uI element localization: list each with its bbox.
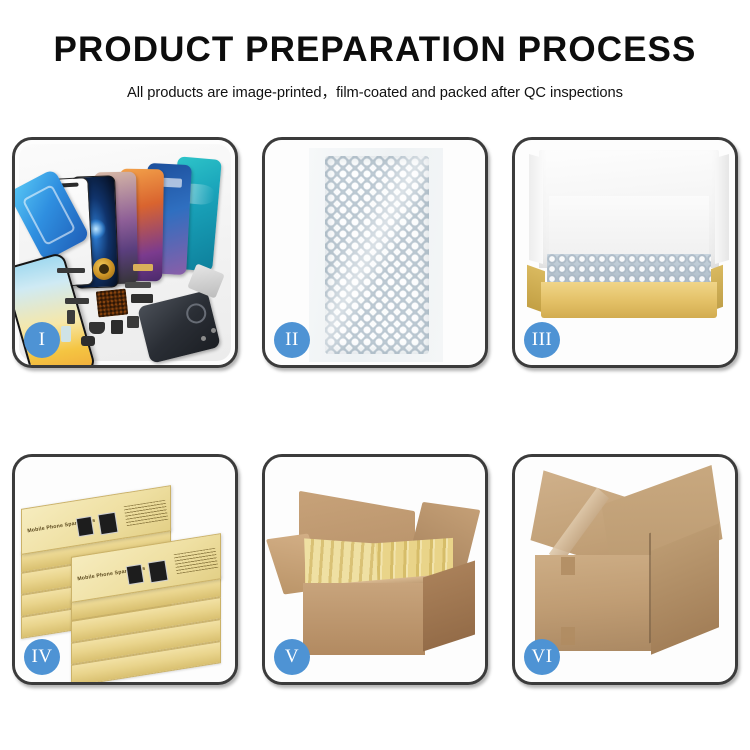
camera-flex-icon	[131, 294, 153, 303]
product-preparation-infographic: PRODUCT PREPARATION PROCESS All products…	[0, 0, 750, 750]
plastic-sheen-overlay	[325, 156, 429, 354]
header: PRODUCT PREPARATION PROCESS All products…	[0, 32, 750, 102]
page-subtitle: All products are image-printed，film-coat…	[0, 81, 750, 102]
button-flex-icon	[133, 264, 153, 271]
bubble-wrapped-contents-icon	[547, 254, 711, 284]
step-badge-4: IV	[24, 639, 60, 675]
step-panel-1: I	[12, 137, 238, 368]
carton-front-face	[535, 555, 651, 651]
step-badge-5: V	[274, 639, 310, 675]
carton-flap-tab	[561, 627, 575, 645]
box-artwork-phone-icon	[126, 564, 145, 585]
carton-edge-seam	[649, 533, 651, 644]
connector-strip-icon	[65, 298, 89, 304]
speaker-box-icon	[81, 336, 95, 346]
taptic-engine-icon	[111, 320, 123, 334]
carton-side-face	[423, 561, 475, 652]
step-panel-4: Mobile Phone Spare Parts Mobile Phone Sp…	[12, 454, 238, 685]
step-panel-6: VI	[512, 454, 738, 685]
kraft-box-front	[541, 282, 717, 318]
step-panel-3: III	[512, 137, 738, 368]
step-badge-6: VI	[524, 639, 560, 675]
screw-icon	[201, 336, 206, 341]
sim-card-icon	[61, 326, 71, 342]
box-artwork-phone-icon	[147, 560, 168, 584]
carton-front-face	[303, 583, 425, 655]
carton-flap-tab	[561, 557, 575, 575]
flex-cable-icon	[57, 268, 85, 273]
box-artwork-phone-icon	[76, 516, 95, 537]
screw-icon	[211, 328, 216, 333]
foam-liner-icon	[549, 196, 709, 258]
step-panel-5: V	[262, 454, 488, 685]
page-title: PRODUCT PREPARATION PROCESS	[0, 32, 750, 69]
vibrator-motor-icon	[93, 258, 115, 280]
speaker-mesh-icon	[96, 289, 129, 318]
box-artwork-phone-icon	[97, 512, 118, 536]
process-steps-grid: I II III	[12, 137, 738, 685]
antenna-flex-icon	[125, 282, 151, 288]
step-badge-2: II	[274, 322, 310, 358]
receiver-icon	[89, 322, 105, 334]
sim-tray-icon	[67, 310, 75, 324]
step-badge-1: I	[24, 322, 60, 358]
step-badge-3: III	[524, 322, 560, 358]
camera-module-icon	[127, 316, 139, 328]
step-panel-2: II	[262, 137, 488, 368]
